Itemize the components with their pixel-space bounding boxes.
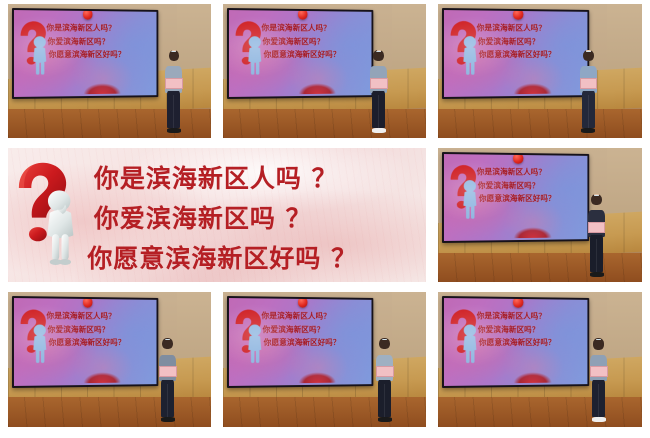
person-legs	[590, 235, 603, 272]
slide-line-2: 你爱滨海新区吗？	[48, 324, 152, 335]
floor	[438, 253, 642, 282]
person-shoes	[167, 128, 181, 133]
conference-room-scene: 你是滨海新区人吗？ 你爱滨海新区吗？ 你愿意滨海新区好吗？	[223, 4, 426, 138]
person-head	[379, 338, 390, 350]
slide-text-block: 你是滨海新区人吗？ 你爱滨海新区吗？ 你愿意滨海新区好吗？	[46, 23, 151, 60]
held-card	[376, 366, 394, 377]
held-card	[159, 366, 177, 377]
photo-cell-bottom-right[interactable]: 你是滨海新区人吗？ 你爱滨海新区吗？ 你愿意滨海新区好吗？	[438, 292, 642, 427]
face-mask	[165, 339, 170, 340]
red-balloon-icon	[83, 10, 93, 20]
floor	[438, 109, 642, 138]
slide-text-block: 你是滨海新区人吗？ 你爱滨海新区吗？ 你愿意滨海新区好吗？	[477, 311, 582, 348]
slide-line-3: 你愿意滨海新区好吗？	[479, 193, 582, 204]
person-head	[583, 50, 594, 62]
person-legs	[378, 380, 391, 417]
slide-text-block: 你是滨海新区人吗？ 你爱滨海新区吗？ 你愿意滨海新区好吗？	[477, 167, 582, 204]
slide-line-1: 你是滨海新区人吗？	[477, 23, 582, 35]
conference-room-scene: 你是滨海新区人吗？ 你爱滨海新区吗？ 你愿意滨海新区好吗？	[223, 292, 426, 427]
projection-screen: 你是滨海新区人吗？ 你爱滨海新区吗？ 你愿意滨海新区好吗？	[12, 296, 159, 388]
slide-text-block: 你是滨海新区人吗？ 你爱滨海新区吗？ 你愿意滨海新区好吗？	[477, 23, 582, 60]
slide-line-1: 你是滨海新区人吗？	[261, 23, 366, 35]
face-mask	[171, 51, 176, 52]
person-legs	[582, 91, 595, 128]
slide-text-block: 你是滨海新区人吗？ 你爱滨海新区吗？ 你愿意滨海新区好吗？	[261, 23, 366, 60]
held-card	[588, 222, 606, 233]
slide-text-block: 你是滨海新区人吗？ 你爱滨海新区吗？ 你愿意滨海新区好吗？	[261, 311, 366, 348]
flower-decoration	[509, 81, 557, 95]
person-legs	[167, 91, 180, 128]
floor	[8, 397, 211, 427]
person-legs	[592, 380, 605, 417]
slide-line-2: 你爱滨海新区吗？	[478, 324, 582, 335]
held-card	[590, 366, 608, 377]
face-mask	[586, 51, 591, 52]
conference-room-scene: 你是滨海新区人吗？ 你爱滨海新区吗？ 你愿意滨海新区好吗？	[438, 148, 642, 282]
person-shoes	[161, 417, 175, 422]
flower-decoration	[293, 81, 341, 95]
person-shoes	[592, 417, 606, 422]
presenter-person	[375, 338, 394, 422]
flower-decoration	[78, 81, 126, 95]
person-head	[169, 50, 180, 62]
person-shoes	[378, 417, 392, 422]
slide-line-1: 你是滨海新区人吗？	[46, 311, 151, 323]
banner-line-2: 你爱滨海新区吗 ？	[94, 199, 414, 235]
person-head	[373, 50, 384, 62]
photo-cell-bottom-left[interactable]: 你是滨海新区人吗？ 你爱滨海新区吗？ 你愿意滨海新区好吗？	[8, 292, 211, 427]
red-balloon-icon	[513, 10, 523, 20]
floor	[223, 109, 426, 138]
flower-decoration	[509, 225, 557, 239]
slide-line-3: 你愿意滨海新区好吗？	[49, 49, 152, 60]
banner-text-block: 你是滨海新区人吗 ？ 你爱滨海新区吗 ？ 你愿意滨海新区好吗 ？	[87, 157, 413, 276]
person-head	[162, 338, 173, 350]
red-balloon-icon	[83, 298, 93, 308]
presenter-person	[164, 50, 183, 133]
photo-cell-bottom-center[interactable]: 你是滨海新区人吗？ 你爱滨海新区吗？ 你愿意滨海新区好吗？	[223, 292, 426, 427]
presenter-person	[158, 338, 177, 422]
red-balloon-icon	[513, 154, 523, 164]
slide-line-3: 你愿意滨海新区好吗？	[49, 337, 152, 348]
conference-room-scene: 你是滨海新区人吗？ 你爱滨海新区吗？ 你愿意滨海新区好吗？	[8, 292, 211, 427]
floor	[223, 397, 426, 427]
slide-line-3: 你愿意滨海新区好吗？	[479, 337, 582, 348]
photo-cell-top-right[interactable]: 你是滨海新区人吗？ 你爱滨海新区吗？ 你愿意滨海新区好吗？	[438, 4, 642, 138]
slide-text-block: 你是滨海新区人吗？ 你爱滨海新区吗？ 你愿意滨海新区好吗？	[46, 311, 151, 348]
presenter-person	[587, 194, 606, 277]
slide-line-3: 你愿意滨海新区好吗？	[264, 337, 367, 348]
slide-line-2: 你爱滨海新区吗？	[478, 36, 582, 47]
face-mask	[594, 195, 599, 196]
projection-screen: 你是滨海新区人吗？ 你爱滨海新区吗？ 你愿意滨海新区好吗？	[12, 8, 159, 99]
person-shoes	[590, 272, 604, 277]
flower-decoration	[78, 369, 126, 383]
projection-screen: 你是滨海新区人吗？ 你爱滨海新区吗？ 你愿意滨海新区好吗？	[442, 296, 589, 388]
held-card	[370, 78, 388, 89]
conference-room-scene: 你是滨海新区人吗？ 你爱滨海新区吗？ 你愿意滨海新区好吗？	[438, 292, 642, 427]
projection-screen: 你是滨海新区人吗？ 你爱滨海新区吗？ 你愿意滨海新区好吗？	[227, 296, 374, 388]
person-shoes	[581, 128, 595, 133]
slide-line-3: 你愿意滨海新区好吗？	[479, 49, 582, 60]
projection-screen: 你是滨海新区人吗？ 你爱滨海新区吗？ 你愿意滨海新区好吗？	[227, 8, 374, 99]
photo-collage: 你是滨海新区人吗？ 你爱滨海新区吗？ 你愿意滨海新区好吗？	[0, 0, 650, 438]
slide-line-3: 你愿意滨海新区好吗？	[264, 49, 367, 60]
red-balloon-icon	[298, 298, 308, 308]
face-mask	[376, 51, 381, 52]
person-head	[591, 194, 602, 206]
slide-line-2: 你爱滨海新区吗？	[263, 36, 367, 47]
projection-screen: 你是滨海新区人吗？ 你爱滨海新区吗？ 你愿意滨海新区好吗？	[442, 152, 589, 243]
held-card	[580, 78, 598, 89]
presenter-person	[579, 50, 598, 133]
question-mark-icon	[13, 153, 84, 276]
slide-line-2: 你爱滨海新区吗？	[263, 324, 367, 335]
person-legs	[372, 91, 385, 128]
red-balloon-icon	[298, 10, 308, 20]
flower-decoration	[293, 369, 341, 383]
slide-line-1: 你是滨海新区人吗？	[46, 23, 151, 35]
photo-cell-middle-right[interactable]: 你是滨海新区人吗？ 你爱滨海新区吗？ 你愿意滨海新区好吗？	[438, 148, 642, 282]
slide-line-1: 你是滨海新区人吗？	[477, 311, 582, 323]
question-banner: 你是滨海新区人吗 ？ 你爱滨海新区吗 ？ 你愿意滨海新区好吗 ？	[8, 148, 426, 282]
conference-room-scene: 你是滨海新区人吗？ 你爱滨海新区吗？ 你愿意滨海新区好吗？	[8, 4, 211, 138]
banner-line-1: 你是滨海新区人吗 ？	[94, 159, 414, 195]
slide-line-2: 你爱滨海新区吗？	[478, 180, 582, 191]
photo-cell-top-left[interactable]: 你是滨海新区人吗？ 你爱滨海新区吗？ 你愿意滨海新区好吗？	[8, 4, 211, 138]
presenter-person	[589, 338, 608, 422]
flower-decoration	[509, 369, 557, 383]
photo-cell-top-center[interactable]: 你是滨海新区人吗？ 你爱滨海新区吗？ 你愿意滨海新区好吗？	[223, 4, 426, 138]
floor	[438, 397, 642, 427]
slide-line-1: 你是滨海新区人吗？	[261, 311, 366, 323]
person-shoes	[372, 128, 386, 133]
slide-line-2: 你爱滨海新区吗？	[48, 36, 152, 47]
conference-room-scene: 你是滨海新区人吗？ 你爱滨海新区吗？ 你愿意滨海新区好吗？	[438, 4, 642, 138]
presenter-person	[369, 50, 388, 133]
held-card	[165, 78, 183, 89]
banner-line-3: 你愿意滨海新区好吗 ？	[87, 239, 413, 275]
slide-line-1: 你是滨海新区人吗？	[477, 167, 582, 179]
projection-screen: 你是滨海新区人吗？ 你爱滨海新区吗？ 你愿意滨海新区好吗？	[442, 8, 589, 99]
red-balloon-icon	[513, 298, 523, 308]
face-mask	[382, 339, 387, 340]
person-head	[593, 338, 604, 350]
person-legs	[161, 380, 174, 417]
